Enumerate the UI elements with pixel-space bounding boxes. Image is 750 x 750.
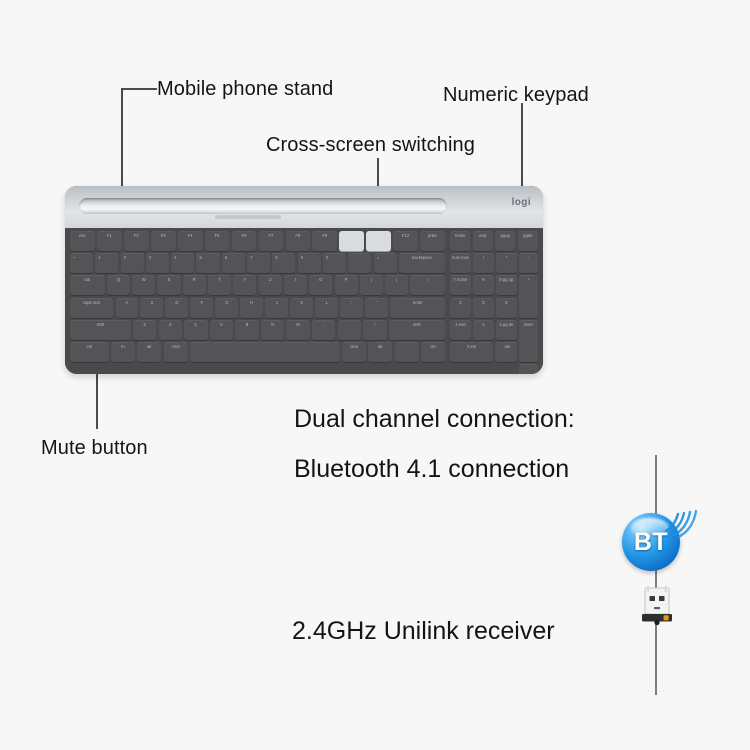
numpad-key-num-lock[interactable]: num lock xyxy=(450,253,471,273)
wireless-signal-icon xyxy=(658,501,706,549)
keyboard-row-numbers: ~ 1 2 3 4 5 6 7 8 9 0 - = backspace xyxy=(70,253,445,273)
unilink-receiver-label: 2.4GHz Unilink receiver xyxy=(292,617,555,646)
key-alt-left[interactable]: alt xyxy=(137,342,161,362)
usb-receiver-icon xyxy=(633,583,681,631)
key-k[interactable]: K xyxy=(290,298,313,318)
numpad-key-pgdn[interactable]: pgdn xyxy=(518,231,538,251)
key-t[interactable]: T xyxy=(208,275,231,295)
key-shift-left[interactable]: shift xyxy=(70,320,131,340)
key-tilde[interactable]: ~ xyxy=(70,253,93,273)
numpad-key-pgup[interactable]: pgup xyxy=(495,231,515,251)
keyboard-product-image: logi esc F1 F2 F3 F4 F5 F6 F7 F8 xyxy=(65,186,543,374)
key-enter[interactable]: enter xyxy=(390,298,445,318)
key-f9[interactable]: F9 xyxy=(312,231,337,251)
key-9[interactable]: 9 xyxy=(298,253,321,273)
key-2[interactable]: 2 xyxy=(121,253,144,273)
key-apostrophe[interactable]: ' xyxy=(365,298,388,318)
key-b[interactable]: B xyxy=(235,320,258,340)
key-y[interactable]: Y xyxy=(233,275,256,295)
key-n[interactable]: N xyxy=(261,320,284,340)
key-f[interactable]: F xyxy=(190,298,213,318)
numpad-key-5[interactable]: 5 xyxy=(473,298,494,318)
key-7[interactable]: 7 xyxy=(247,253,270,273)
numpad-row-2: 7 home 8 9 pg up xyxy=(450,275,517,295)
bluetooth-description: Bluetooth 4.1 connection xyxy=(294,455,569,484)
key-g[interactable]: G xyxy=(215,298,238,318)
key-4[interactable]: 4 xyxy=(171,253,194,273)
numpad-row-top: home end pgup pgdn xyxy=(450,231,538,251)
infographic-canvas: Mobile phone stand Cross-screen switchin… xyxy=(0,0,750,750)
key-cmd-left[interactable]: cmd xyxy=(164,342,188,362)
keyboard-key-deck: esc F1 F2 F3 F4 F5 F6 F7 F8 F9 F12 prtsc xyxy=(65,228,543,374)
keyboard-top-panel: logi xyxy=(65,186,543,228)
keyboard-main-block: esc F1 F2 F3 F4 F5 F6 F7 F8 F9 F12 prtsc xyxy=(70,231,445,374)
numpad-key-divide[interactable]: / xyxy=(473,253,494,273)
key-1[interactable]: 1 xyxy=(95,253,118,273)
key-0[interactable]: 0 xyxy=(323,253,346,273)
keyboard-row-shift: shift Z X C V B N M , . / shift xyxy=(70,320,445,340)
key-c[interactable]: C xyxy=(184,320,207,340)
callout-label-mute-button: Mute button xyxy=(41,437,148,460)
numpad-key-2[interactable]: 2 xyxy=(473,320,494,340)
numeric-keypad-block: home end pgup pgdn num lock / * xyxy=(450,231,538,374)
connector-line xyxy=(655,455,657,695)
key-z[interactable]: Z xyxy=(133,320,156,340)
numpad-key-0[interactable]: 0 ins xyxy=(450,342,493,362)
key-space[interactable] xyxy=(190,342,340,362)
key-u[interactable]: U xyxy=(259,275,282,295)
key-6[interactable]: 6 xyxy=(222,253,245,273)
key-8[interactable]: 8 xyxy=(272,253,295,273)
key-cross-screen-channel-1[interactable] xyxy=(339,231,364,251)
keyboard-row-modifiers: ctrl fn alt cmd cmd alt ctrl xyxy=(70,342,445,362)
key-s[interactable]: S xyxy=(140,298,163,318)
numpad-row-5: 0 ins . del xyxy=(450,342,517,362)
key-m[interactable]: M xyxy=(286,320,309,340)
key-l[interactable]: L xyxy=(315,298,338,318)
leader-line-mobile-phone-stand-horizontal xyxy=(122,88,157,90)
numpad-key-9[interactable]: 9 pg up xyxy=(496,275,517,295)
keyboard-row-qwerty: tab Q W E R T Y U I O P [ ] \ xyxy=(70,275,445,295)
key-f5[interactable]: F5 xyxy=(205,231,230,251)
key-f7[interactable]: F7 xyxy=(259,231,284,251)
key-backslash[interactable]: \ xyxy=(410,275,445,295)
phone-stand-groove xyxy=(79,198,447,214)
key-f4[interactable]: F4 xyxy=(178,231,203,251)
key-fn[interactable]: fn xyxy=(111,342,135,362)
numpad-key-3[interactable]: 3 pg dn xyxy=(496,320,517,340)
bluetooth-badge: BT xyxy=(622,513,680,571)
key-x[interactable]: X xyxy=(159,320,182,340)
numpad-key-8[interactable]: 8 xyxy=(473,275,494,295)
numpad-key-1[interactable]: 1 end xyxy=(450,320,471,340)
key-f6[interactable]: F6 xyxy=(232,231,257,251)
numpad-key-end[interactable]: end xyxy=(473,231,493,251)
key-slash[interactable]: / xyxy=(363,320,386,340)
logi-brand-logo: logi xyxy=(512,197,531,208)
numpad-row-1: num lock / * xyxy=(450,253,517,273)
key-d[interactable]: D xyxy=(165,298,188,318)
key-ctrl-left[interactable]: ctrl xyxy=(70,342,109,362)
callout-label-cross-screen-switching: Cross-screen switching xyxy=(266,134,475,157)
key-f3[interactable]: F3 xyxy=(151,231,176,251)
phone-stand-notch xyxy=(215,215,281,219)
key-prtsc[interactable]: prtsc xyxy=(420,231,445,251)
key-w[interactable]: W xyxy=(132,275,155,295)
key-5[interactable]: 5 xyxy=(196,253,219,273)
key-a[interactable]: A xyxy=(116,298,139,318)
numpad-key-add[interactable]: + xyxy=(519,275,538,317)
key-cmd-right[interactable]: cmd xyxy=(342,342,366,362)
numpad-key-arrow-down[interactable] xyxy=(519,364,538,374)
key-f12[interactable]: F12 xyxy=(393,231,418,251)
callout-label-mobile-phone-stand: Mobile phone stand xyxy=(157,78,333,101)
numpad-key-multiply[interactable]: * xyxy=(496,253,517,273)
key-j[interactable]: J xyxy=(265,298,288,318)
key-e[interactable]: E xyxy=(157,275,180,295)
key-f2[interactable]: F2 xyxy=(124,231,149,251)
key-semicolon[interactable]: ; xyxy=(340,298,363,318)
key-alt-right[interactable]: alt xyxy=(368,342,392,362)
key-period[interactable]: . xyxy=(338,320,361,340)
key-comma[interactable]: , xyxy=(312,320,335,340)
keyboard-row-function: esc F1 F2 F3 F4 F5 F6 F7 F8 F9 F12 prtsc xyxy=(70,231,445,251)
key-bracket-left[interactable]: [ xyxy=(360,275,383,295)
key-i[interactable]: I xyxy=(284,275,307,295)
key-o[interactable]: O xyxy=(309,275,332,295)
leader-line-mobile-phone-stand-vertical xyxy=(121,88,123,201)
key-f8[interactable]: F8 xyxy=(286,231,311,251)
key-minus[interactable]: - xyxy=(348,253,371,273)
callout-label-numeric-keypad: Numeric keypad xyxy=(443,84,589,107)
key-backspace[interactable]: backspace xyxy=(399,253,445,273)
key-h[interactable]: H xyxy=(240,298,263,318)
key-equals[interactable]: = xyxy=(374,253,397,273)
numpad-key-enter[interactable]: enter xyxy=(519,320,538,362)
key-bracket-right[interactable]: ] xyxy=(385,275,408,295)
keyboard-row-home: caps lock A S D F G H J K L ; ' enter xyxy=(70,298,445,318)
key-esc[interactable]: esc xyxy=(70,231,95,251)
key-3[interactable]: 3 xyxy=(146,253,169,273)
numpad-key-home[interactable]: home xyxy=(450,231,470,251)
numpad-key-subtract[interactable]: - xyxy=(519,253,538,273)
key-arrow-up-down-cluster[interactable] xyxy=(395,342,419,362)
key-shift-right[interactable]: shift xyxy=(389,320,445,340)
numpad-key-7[interactable]: 7 home xyxy=(450,275,471,295)
numpad-row-4: 1 end 2 3 pg dn xyxy=(450,320,517,340)
key-p[interactable]: P xyxy=(335,275,358,295)
key-r[interactable]: R xyxy=(183,275,206,295)
key-tab[interactable]: tab xyxy=(70,275,105,295)
numpad-row-3: 4 5 6 xyxy=(450,298,517,318)
numpad-key-decimal[interactable]: . del xyxy=(495,342,517,362)
key-v[interactable]: V xyxy=(210,320,233,340)
dual-channel-heading: Dual channel connection: xyxy=(294,405,575,434)
numpad-key-6[interactable]: 6 xyxy=(496,298,517,318)
key-f1[interactable]: F1 xyxy=(97,231,122,251)
key-ctrl-right[interactable]: ctrl xyxy=(421,342,445,362)
key-caps-lock[interactable]: caps lock xyxy=(70,298,113,318)
key-q[interactable]: Q xyxy=(107,275,130,295)
numpad-key-4[interactable]: 4 xyxy=(450,298,471,318)
key-cross-screen-channel-2[interactable] xyxy=(366,231,391,251)
